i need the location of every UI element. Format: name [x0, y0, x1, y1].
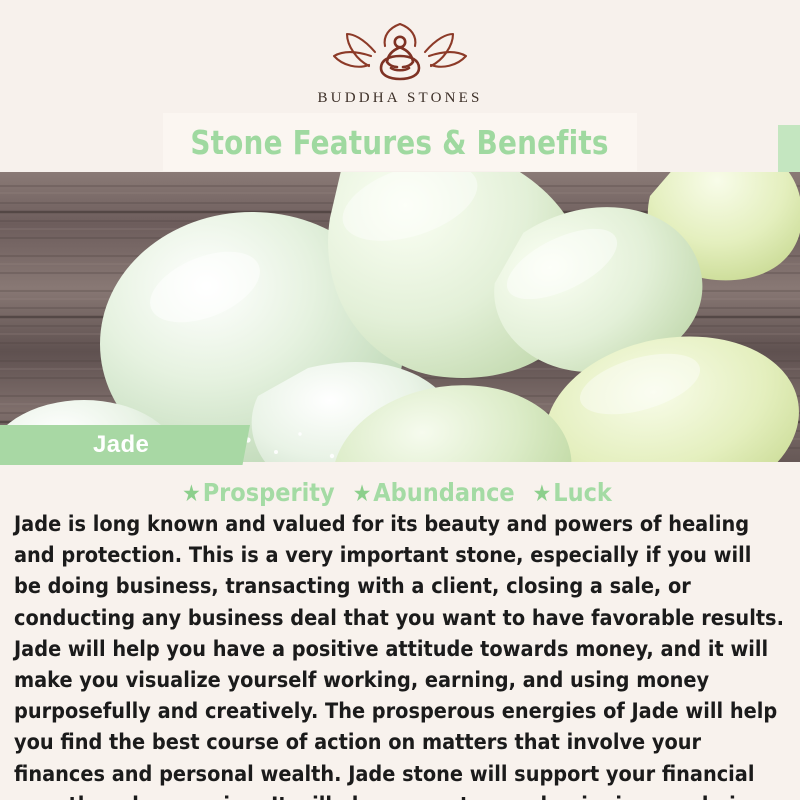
- benefit-label-2: Luck: [553, 478, 612, 507]
- title-plaque: Stone Features & Benefits: [163, 113, 637, 171]
- stone-name-badge: Jade: [0, 425, 250, 465]
- star-icon: ★: [533, 481, 552, 507]
- brand-header: BUDDHA STONES: [0, 0, 800, 125]
- brand-name: BUDDHA STONES: [317, 90, 482, 107]
- benefit-item-0: ★Prosperity: [176, 478, 347, 507]
- benefit-label-1: Abundance: [373, 478, 514, 507]
- poster-root: BUDDHA STONES Stone Features & Benefits: [0, 0, 800, 800]
- page-title: Stone Features & Benefits: [191, 123, 609, 162]
- star-icon: ★: [353, 481, 372, 507]
- stone-photo: [0, 172, 800, 462]
- benefit-label-0: Prosperity: [203, 478, 335, 507]
- star-icon: ★: [182, 481, 201, 507]
- lotus-meditation-figure-icon: [325, 22, 475, 84]
- description-panel: ★Prosperity★Abundance★Luck Jade is long …: [0, 462, 800, 800]
- stone-name-label: Jade: [93, 431, 149, 459]
- benefit-item-1: ★Abundance: [347, 478, 527, 507]
- stone-photo-illustration: [0, 172, 800, 462]
- stone-description: Jade is long known and valued for its be…: [14, 509, 784, 800]
- benefits-list: ★Prosperity★Abundance★Luck: [0, 478, 800, 507]
- benefit-item-2: ★Luck: [527, 478, 624, 507]
